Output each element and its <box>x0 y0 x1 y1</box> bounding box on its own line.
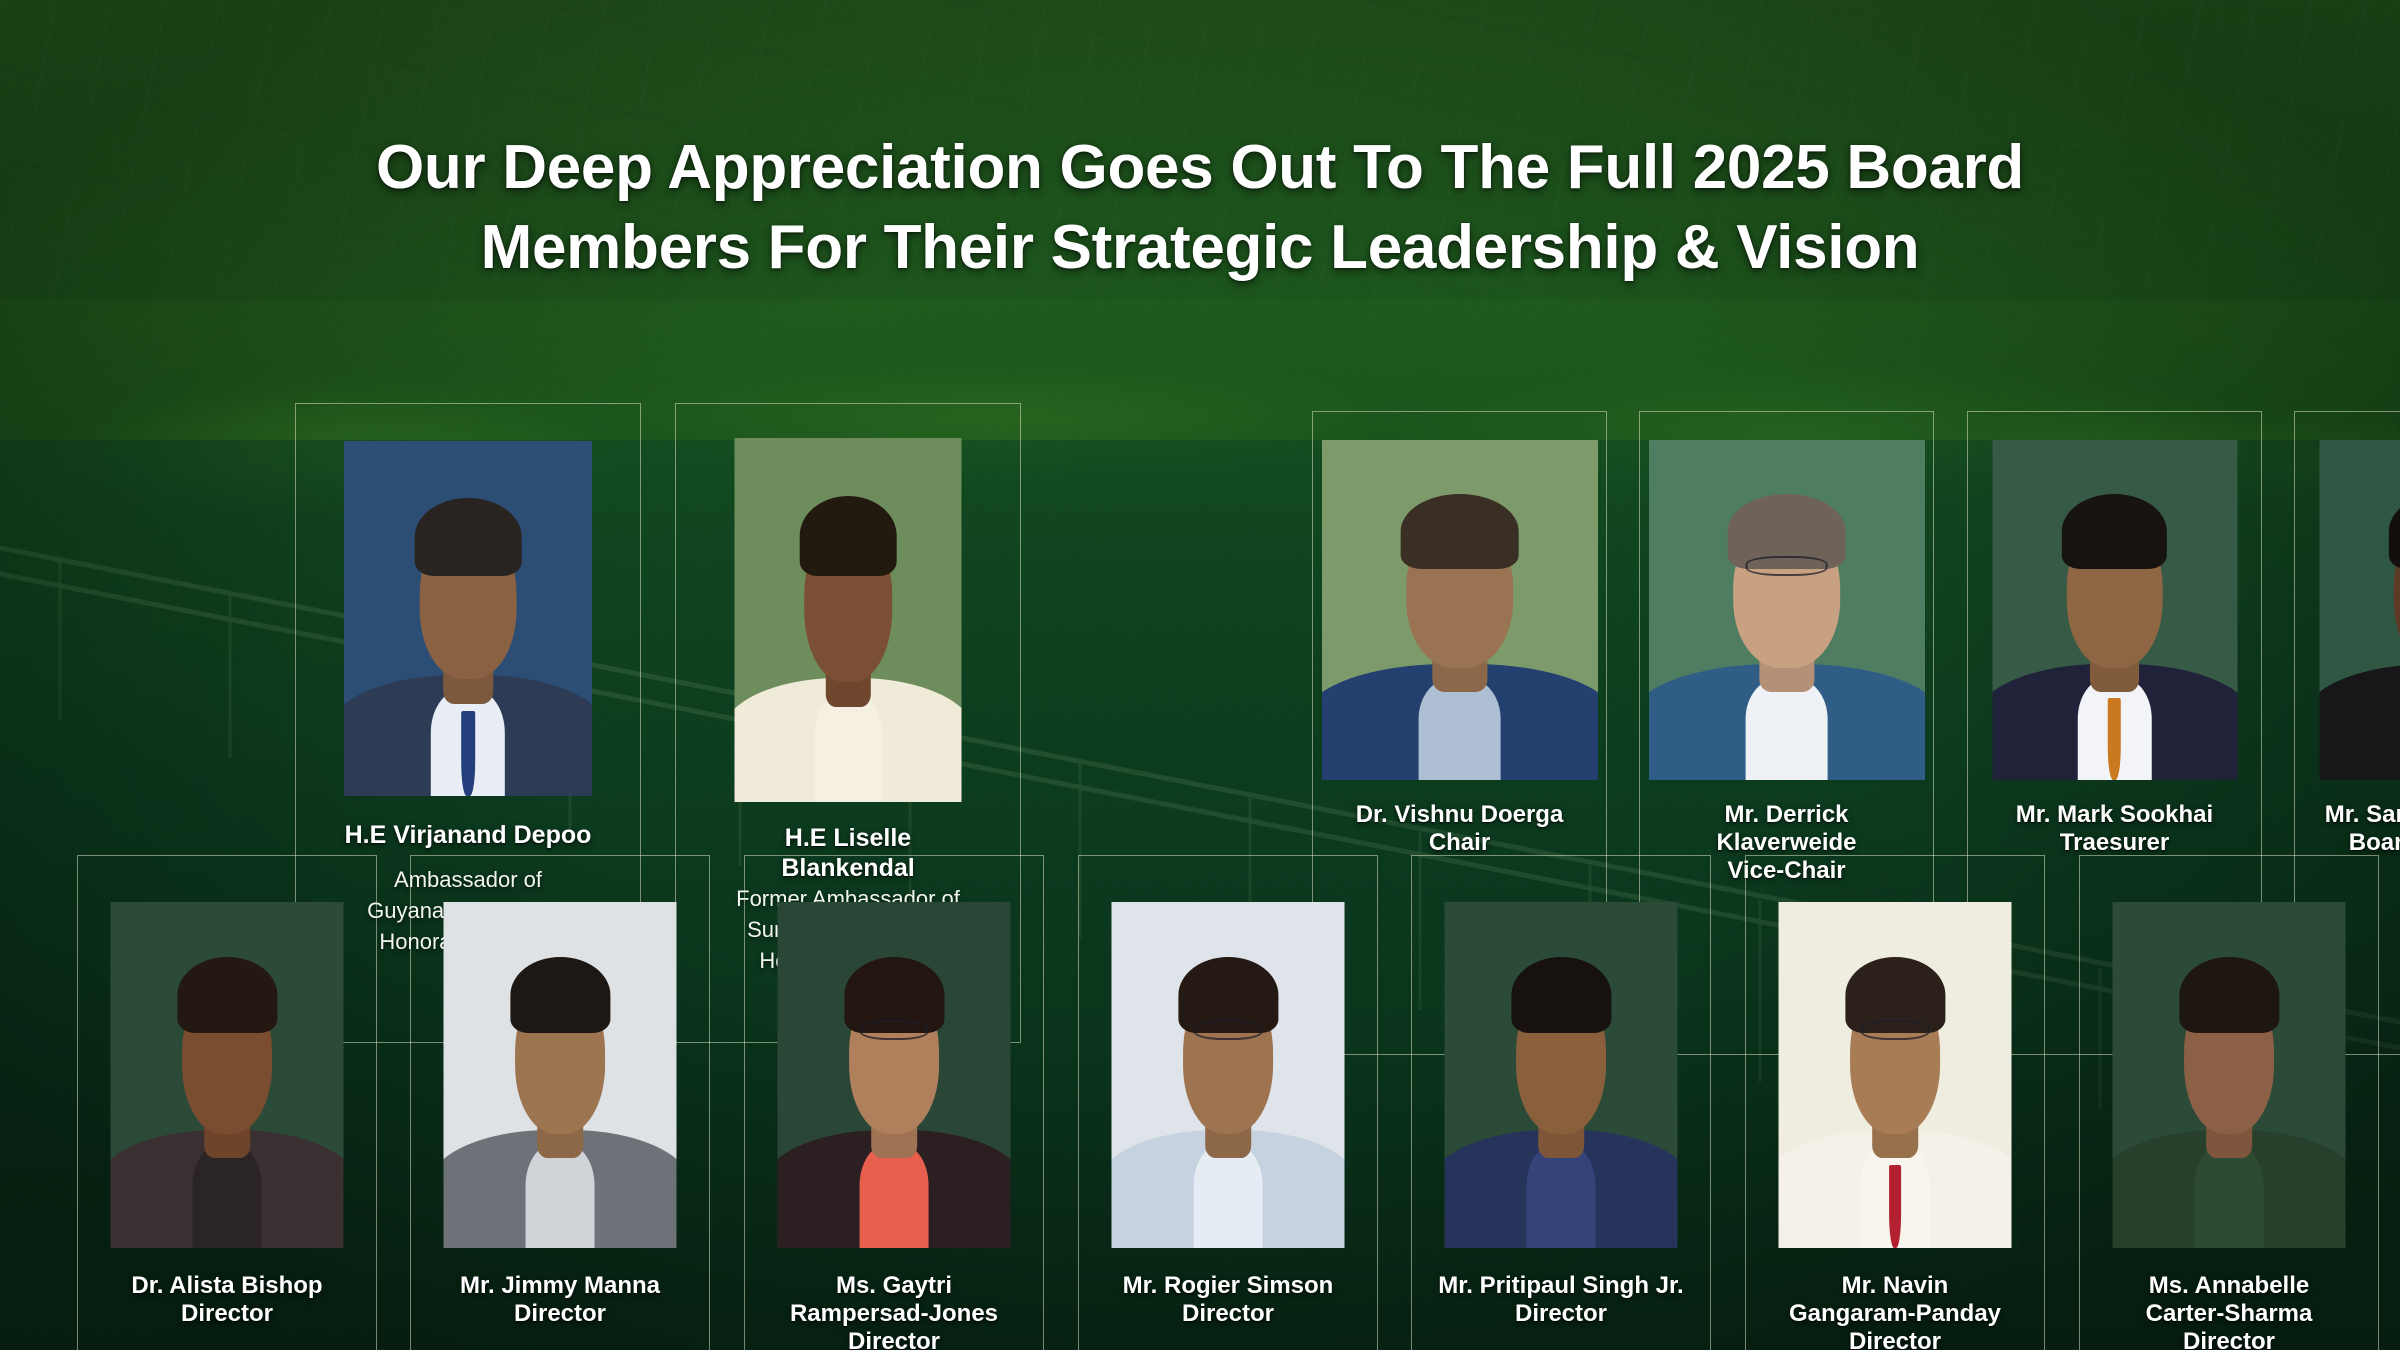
board-member-role: Director <box>1418 1300 1704 1328</box>
board-member-photo <box>1649 440 1925 780</box>
portrait-mark-sookhai <box>1992 440 2237 780</box>
board-member-name: Mr. Pritipaul Singh Jr. <box>1418 1272 1704 1300</box>
board-member-name: Mr. Mark Sookhai <box>1974 801 2255 829</box>
board-member-role: Director <box>84 1300 370 1328</box>
portrait-eyeglasses <box>1860 1020 1930 1041</box>
board-member-name: Mr. Samuel Glasgow <box>2301 801 2400 829</box>
portrait-liselle-blankendal <box>735 438 962 802</box>
board-member-photo <box>111 902 344 1248</box>
portrait-hair <box>1400 494 1519 569</box>
board-member-name: Dr. Alista Bishop <box>84 1272 370 1300</box>
page-title-line-2: Members For Their Strategic Leadership &… <box>0 208 2400 288</box>
portrait-hair <box>415 498 522 576</box>
portrait-jimmy-manna <box>444 902 677 1248</box>
board-member-photo <box>2113 902 2346 1248</box>
board-member-role: Traesurer <box>1974 829 2255 857</box>
board-member-name: Mr. Navin <box>1752 1272 2038 1300</box>
portrait-eyeglasses <box>859 1020 929 1041</box>
board-member-card[interactable]: Ms. GaytriRampersad-JonesDirector <box>744 855 1044 1350</box>
page-title: Our Deep Appreciation Goes Out To The Fu… <box>0 128 2400 288</box>
portrait-shirt <box>1418 678 1501 780</box>
portrait-shirt <box>814 693 882 802</box>
board-member-photo <box>2319 440 2400 780</box>
board-member-photo <box>444 902 677 1248</box>
portrait-necktie <box>2108 698 2121 780</box>
board-member-labels: Mr. Jimmy MannaDirector <box>411 1272 709 1328</box>
board-member-labels: Mr. NavinGangaram-PandayDirector <box>1746 1272 2044 1350</box>
board-member-card[interactable]: Dr. Alista BishopDirector <box>77 855 377 1350</box>
portrait-shirt <box>859 1144 929 1248</box>
portrait-shirt <box>525 1144 595 1248</box>
portrait-alista-bishop <box>111 902 344 1248</box>
board-member-card[interactable]: Mr. Rogier SimsonDirector <box>1078 855 1378 1350</box>
board-member-photo <box>1112 902 1345 1248</box>
board-member-name: Mr. Derrick <box>1646 801 1927 829</box>
board-member-photo <box>344 441 592 796</box>
board-member-labels: Dr. Vishnu DoergaChair <box>1313 801 1606 857</box>
board-member-photo <box>1779 902 2012 1248</box>
board-member-labels: Dr. Alista BishopDirector <box>78 1272 376 1328</box>
portrait-hair <box>2179 957 2279 1033</box>
board-member-name: Mr. Jimmy Manna <box>417 1272 703 1300</box>
board-member-labels: Mr. Mark SookhaiTraesurer <box>1968 801 2261 857</box>
portrait-eyeglasses <box>1745 556 1828 576</box>
board-member-name: Gangaram-Panday <box>1752 1300 2038 1328</box>
board-member-name: H.E Liselle <box>682 823 1014 853</box>
portrait-necktie <box>1889 1165 1902 1248</box>
portrait-annabelle-carter-sharma <box>2113 902 2346 1248</box>
board-member-photo <box>1445 902 1678 1248</box>
board-member-role: Board Secretary <box>2301 829 2400 857</box>
portrait-eyeglasses <box>1193 1020 1263 1041</box>
board-member-photo <box>1992 440 2237 780</box>
portrait-hair <box>799 496 897 576</box>
board-member-labels: Mr. Samuel GlasgowBoard Secretary <box>2295 801 2400 857</box>
portrait-hair <box>2062 494 2167 569</box>
board-member-role: Chair <box>1319 829 1600 857</box>
portrait-hair <box>1511 957 1611 1033</box>
board-member-name: Carter-Sharma <box>2086 1300 2372 1328</box>
board-member-name: Rampersad-Jones <box>751 1300 1037 1328</box>
board-member-name: Dr. Vishnu Doerga <box>1319 801 1600 829</box>
board-member-labels: Mr. Pritipaul Singh Jr.Director <box>1412 1272 1710 1328</box>
board-member-card[interactable]: Ms. AnnabelleCarter-SharmaDirector <box>2079 855 2379 1350</box>
poster-canvas: Our Deep Appreciation Goes Out To The Fu… <box>0 0 2400 1350</box>
page-title-line-1: Our Deep Appreciation Goes Out To The Fu… <box>0 128 2400 208</box>
board-member-role: Director <box>1085 1300 1371 1328</box>
portrait-derrick-klaverweide <box>1649 440 1925 780</box>
portrait-hair <box>177 957 277 1033</box>
portrait-vishnu-doerga <box>1322 440 1598 780</box>
board-member-card[interactable]: Mr. Pritipaul Singh Jr.Director <box>1411 855 1711 1350</box>
board-member-labels: Ms. GaytriRampersad-JonesDirector <box>745 1272 1043 1350</box>
portrait-shirt <box>1526 1144 1596 1248</box>
board-member-name: Klaverweide <box>1646 829 1927 857</box>
portrait-navin-gangaram-panday <box>1779 902 2012 1248</box>
board-member-card[interactable]: Mr. NavinGangaram-PandayDirector <box>1745 855 2045 1350</box>
board-member-photo <box>778 902 1011 1248</box>
portrait-necktie <box>461 711 475 796</box>
portrait-shirt <box>1745 678 1828 780</box>
portrait-samuel-glasgow <box>2319 440 2400 780</box>
portrait-rogier-simson <box>1112 902 1345 1248</box>
board-member-name: Ms. Annabelle <box>2086 1272 2372 1300</box>
board-member-card[interactable]: Mr. Jimmy MannaDirector <box>410 855 710 1350</box>
board-member-name: Ms. Gaytri <box>751 1272 1037 1300</box>
portrait-virjanand-depoo <box>344 441 592 796</box>
board-member-photo <box>1322 440 1598 780</box>
board-member-labels: Ms. AnnabelleCarter-SharmaDirector <box>2080 1272 2378 1350</box>
board-row-top: H.E Virjanand DepooAmbassador ofGuyana t… <box>0 403 2400 833</box>
board-member-labels: Mr. Rogier SimsonDirector <box>1079 1272 1377 1328</box>
board-member-name: Mr. Rogier Simson <box>1085 1272 1371 1300</box>
board-member-name: H.E Virjanand Depoo <box>302 820 634 850</box>
portrait-shirt <box>2194 1144 2264 1248</box>
board-member-role: Director <box>1752 1328 2038 1350</box>
portrait-shirt <box>1193 1144 1263 1248</box>
board-member-photo <box>735 438 962 802</box>
board-row-bottom: Dr. Alista BishopDirectorMr. Jimmy Manna… <box>0 855 2400 1275</box>
portrait-hair <box>510 957 610 1033</box>
board-member-role: Director <box>751 1328 1037 1350</box>
portrait-shirt <box>192 1144 262 1248</box>
portrait-gaytri-rampersad-jones <box>778 902 1011 1248</box>
board-member-role: Director <box>417 1300 703 1328</box>
portrait-pritipaul-singh-jr <box>1445 902 1678 1248</box>
board-member-role: Director <box>2086 1328 2372 1350</box>
